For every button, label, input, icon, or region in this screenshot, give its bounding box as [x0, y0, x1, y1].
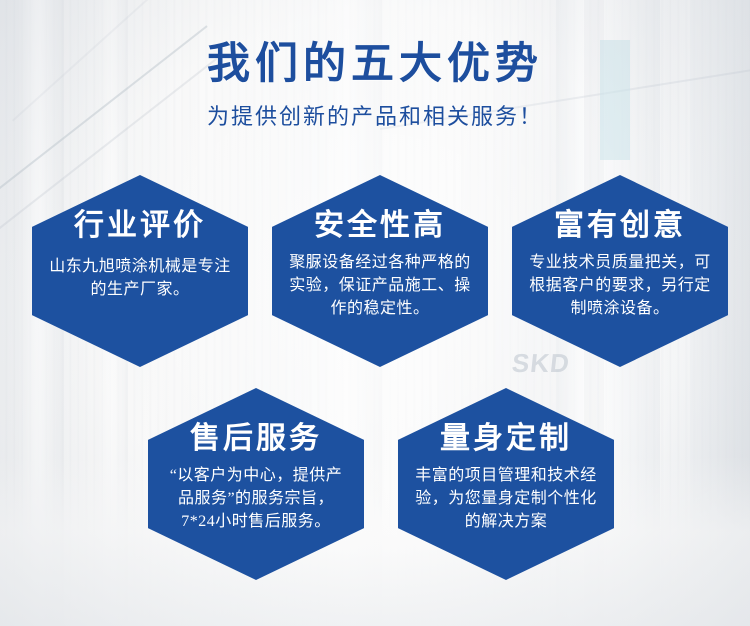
advantage-description: 聚脲设备经过各种严格的实验，保证产品施工、操作的稳定性。 [272, 251, 488, 321]
page-title: 我们的五大优势 [0, 42, 750, 87]
advantage-description: 山东九旭喷涂机械是专注的生产厂家。 [32, 255, 248, 301]
header: 我们的五大优势 为提供创新的产品和相关服务！ [0, 42, 750, 131]
page-subtitle: 为提供创新的产品和相关服务！ [0, 99, 750, 131]
advantage-title: 富有创意 [554, 211, 686, 241]
advantage-description: 专业技术员质量把关，可根据客户的要求，另行定制喷涂设备。 [512, 251, 728, 321]
background-watermark: SKD [510, 348, 571, 379]
background-floor [0, 456, 750, 626]
advantage-title: 安全性高 [314, 211, 446, 241]
advantage-title: 行业评价 [74, 211, 206, 241]
advantage-description: “以客户为中心，提供产品服务”的服务宗旨，7*24小时售后服务。 [148, 464, 364, 534]
advantage-hexagon: 行业评价 山东九旭喷涂机械是专注的生产厂家。 [32, 175, 248, 367]
advantage-hexagon: 安全性高 聚脲设备经过各种严格的实验，保证产品施工、操作的稳定性。 [272, 175, 488, 367]
promo-banner: SKD 我们的五大优势 为提供创新的产品和相关服务！ 行业评价 山东九旭喷涂机械… [0, 0, 750, 626]
advantage-title: 量身定制 [440, 424, 572, 454]
advantage-description: 丰富的项目管理和技术经验，为您量身定制个性化的解决方案 [398, 464, 614, 534]
advantage-title: 售后服务 [190, 424, 322, 454]
